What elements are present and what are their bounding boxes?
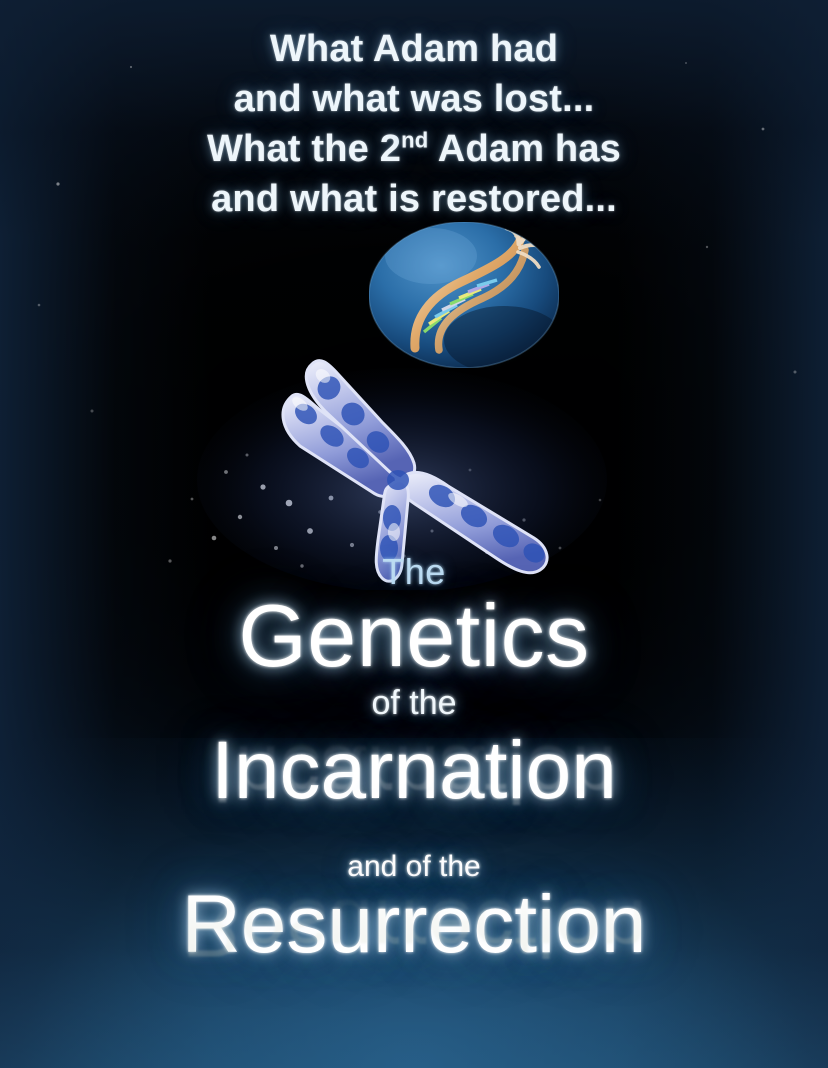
title-resurrection-group: Resurrection Resurrection <box>0 882 828 1056</box>
poster-canvas: What Adam had and what was lost... What … <box>0 0 828 1068</box>
headline-line-3: What the 2nd Adam has <box>0 124 828 174</box>
title-resurrection: Resurrection <box>0 882 828 968</box>
headline-line-1: What Adam had <box>0 24 828 74</box>
title-genetics: Genetics <box>0 590 828 682</box>
headline-ordinal-number: 2 <box>380 128 401 170</box>
headline-ordinal-suffix: nd <box>401 127 428 152</box>
dna-double-helix-globe-icon <box>369 222 559 368</box>
headline-line-3-after: Adam has <box>428 128 621 170</box>
headline-line-3-before: What the <box>207 128 380 170</box>
headline-block: What Adam had and what was lost... What … <box>0 24 828 224</box>
headline-line-4: and what is restored... <box>0 174 828 224</box>
title-incarnation: Incarnation <box>0 728 828 814</box>
title-block: The Genetics of the <box>0 552 828 722</box>
title-of-the: of the <box>0 684 828 722</box>
headline-line-2: and what was lost... <box>0 74 828 124</box>
